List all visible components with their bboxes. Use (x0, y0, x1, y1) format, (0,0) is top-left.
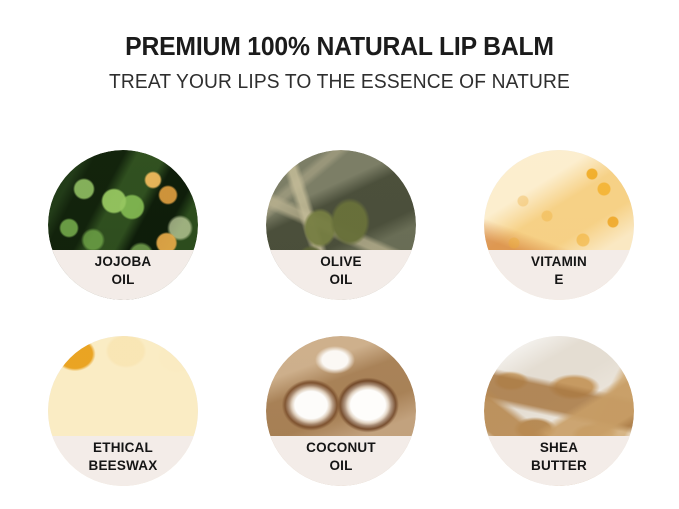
ingredient-label-line1: SHEA (540, 439, 578, 457)
ingredient-label-line2: OIL (111, 271, 134, 289)
ingredient-card-ethical-beeswax[interactable]: ETHICAL BEESWAX (48, 336, 198, 486)
ingredient-card-olive-oil[interactable]: OLIVE OIL (266, 150, 416, 300)
ingredient-label-line1: VITAMIN (531, 253, 587, 271)
header: PREMIUM 100% NATURAL LIP BALM TREAT YOUR… (0, 32, 679, 95)
ingredient-card-coconut-oil[interactable]: COCONUT OIL (266, 336, 416, 486)
ingredient-label-line2: BEESWAX (89, 457, 158, 475)
ingredient-card-vitamin-e[interactable]: VITAMIN E (484, 150, 634, 300)
ingredient-label-line2: E (554, 271, 563, 289)
ingredient-label-line1: OLIVE (320, 253, 362, 271)
ingredient-label-line2: OIL (329, 271, 352, 289)
ingredient-label-line2: BUTTER (531, 457, 587, 475)
ingredient-card-shea-butter[interactable]: SHEA BUTTER (484, 336, 634, 486)
ingredient-label-shea-butter: SHEA BUTTER (484, 436, 634, 486)
ingredient-label-jojoba-oil: JOJOBA OIL (48, 250, 198, 300)
product-ingredients-infographic: PREMIUM 100% NATURAL LIP BALM TREAT YOUR… (0, 0, 679, 509)
ingredient-label-line1: JOJOBA (95, 253, 152, 271)
ingredient-label-ethical-beeswax: ETHICAL BEESWAX (48, 436, 198, 486)
ingredient-label-line1: COCONUT (306, 439, 376, 457)
ingredient-label-olive-oil: OLIVE OIL (266, 250, 416, 300)
ingredient-label-line1: ETHICAL (93, 439, 153, 457)
page-title: PREMIUM 100% NATURAL LIP BALM (10, 32, 669, 62)
page-subtitle: TREAT YOUR LIPS TO THE ESSENCE OF NATURE (14, 69, 666, 95)
ingredient-card-jojoba-oil[interactable]: JOJOBA OIL (48, 150, 198, 300)
ingredient-label-line2: OIL (329, 457, 352, 475)
ingredient-grid: JOJOBA OIL OLIVE OIL VITAMIN E ETHICAL B… (48, 150, 635, 486)
ingredient-label-vitamin-e: VITAMIN E (484, 250, 634, 300)
ingredient-label-coconut-oil: COCONUT OIL (266, 436, 416, 486)
